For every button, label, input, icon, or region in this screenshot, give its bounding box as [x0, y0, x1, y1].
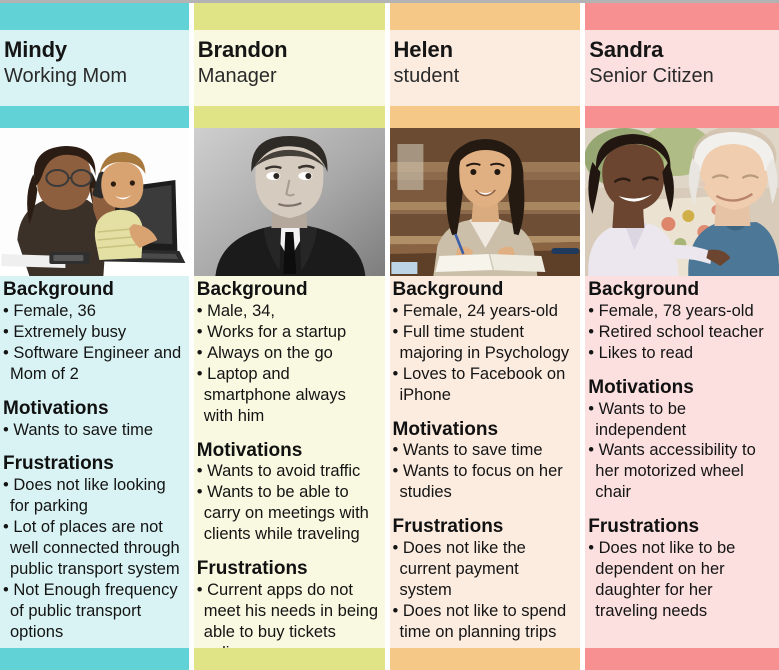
list-item: Software Engineer and Mom of 2 — [3, 343, 183, 385]
accent-band-middle — [194, 106, 385, 128]
motivations-list: Wants to avoid traffic Wants to be able … — [197, 461, 379, 545]
background-list: Male, 34, Works for a startup Always on … — [197, 301, 379, 427]
accent-band-bottom — [585, 648, 779, 670]
frustrations-list: Does not like the current payment system… — [393, 538, 575, 643]
list-item: Laptop and smartphone always with him — [197, 364, 379, 427]
manager-portrait-photo — [194, 128, 385, 276]
persona-body: Background Female, 24 years-old Full tim… — [390, 276, 581, 648]
persona-photo-wrap — [390, 128, 581, 276]
accent-band-bottom — [390, 648, 581, 670]
background-heading: Background — [588, 279, 773, 301]
persona-body: Background Male, 34, Works for a startup… — [194, 276, 385, 648]
list-item: Does not like the current payment system — [393, 538, 575, 601]
motivations-heading: Motivations — [588, 377, 773, 399]
list-item: Likes to read — [588, 343, 773, 364]
accent-band-bottom — [0, 648, 189, 670]
motivations-list: Wants to be independent Wants accessibil… — [588, 399, 773, 504]
persona-role: Senior Citizen — [589, 64, 775, 88]
list-item: Wants to be independent — [588, 399, 773, 441]
persona-card-brandon: Brandon Manager — [194, 3, 385, 670]
accent-band-middle — [585, 106, 779, 128]
list-item: Not Enough frequency of public transport… — [3, 580, 183, 643]
motivations-heading: Motivations — [393, 419, 575, 441]
list-item: Female, 24 years-old — [393, 301, 575, 322]
motivations-heading: Motivations — [197, 440, 379, 462]
list-item: Does not like looking for parking — [3, 475, 183, 517]
senior-citizen-photo — [585, 128, 779, 276]
persona-nameplate: Helen student — [390, 30, 581, 106]
persona-nameplate: Mindy Working Mom — [0, 30, 189, 106]
list-item: Wants to avoid traffic — [197, 461, 379, 482]
motivations-list: Wants to save time Wants to focus on her… — [393, 440, 575, 503]
list-item: Female, 78 years-old — [588, 301, 773, 322]
frustrations-heading: Frustrations — [197, 558, 379, 580]
list-item: Wants to save time — [393, 440, 575, 461]
top-divider-rule — [0, 0, 779, 3]
persona-photo-wrap — [585, 128, 779, 276]
frustrations-list: Current apps do not meet his needs in be… — [197, 580, 379, 648]
persona-card-mindy: Mindy Working Mom — [0, 3, 189, 670]
list-item: Wants to be able to carry on meetings wi… — [197, 482, 379, 545]
motivations-heading: Motivations — [3, 398, 183, 420]
frustrations-list: Does not like looking for parking Lot of… — [3, 475, 183, 643]
list-item: Wants accessibility to her motorized whe… — [588, 440, 773, 503]
persona-nameplate: Brandon Manager — [194, 30, 385, 106]
persona-role: Working Mom — [4, 64, 185, 88]
persona-photo-wrap — [194, 128, 385, 276]
persona-nameplate: Sandra Senior Citizen — [585, 30, 779, 106]
persona-role: student — [394, 64, 577, 88]
list-item: Does not like to be dependent on her dau… — [588, 538, 773, 622]
persona-body: Background Female, 36 Extremely busy Sof… — [0, 276, 189, 648]
background-heading: Background — [3, 279, 183, 301]
background-list: Female, 36 Extremely busy Software Engin… — [3, 301, 183, 385]
background-heading: Background — [197, 279, 379, 301]
frustrations-heading: Frustrations — [393, 516, 575, 538]
frustrations-heading: Frustrations — [3, 453, 183, 475]
accent-band-top — [0, 3, 189, 30]
persona-name: Helen — [394, 38, 577, 63]
background-heading: Background — [393, 279, 575, 301]
persona-name: Brandon — [198, 38, 381, 63]
persona-role: Manager — [198, 64, 381, 88]
frustrations-list: Does not like to be dependent on her dau… — [588, 538, 773, 622]
list-item: Extremely busy — [3, 322, 183, 343]
persona-name: Mindy — [4, 38, 185, 63]
persona-card-helen: Helen student — [390, 3, 581, 670]
list-item: Loves to Facebook on iPhone — [393, 364, 575, 406]
frustrations-heading: Frustrations — [588, 516, 773, 538]
list-item: Retired school teacher — [588, 322, 773, 343]
list-item: Works for a startup — [197, 322, 379, 343]
list-item: Lot of places are not well connected thr… — [3, 517, 183, 580]
accent-band-top — [390, 3, 581, 30]
persona-board: Mindy Working Mom — [0, 0, 779, 670]
accent-band-top — [194, 3, 385, 30]
accent-band-middle — [0, 106, 189, 128]
list-item: Current apps do not meet his needs in be… — [197, 580, 379, 648]
list-item: Wants to save time — [3, 420, 183, 441]
persona-body: Background Female, 78 years-old Retired … — [585, 276, 779, 648]
working-mom-photo — [0, 128, 189, 276]
persona-card-sandra: Sandra Senior Citizen — [585, 3, 779, 670]
accent-band-top — [585, 3, 779, 30]
student-photo — [390, 128, 581, 276]
motivations-list: Wants to save time — [3, 420, 183, 441]
persona-photo-wrap — [0, 128, 189, 276]
list-item: Full time student majoring in Psychology — [393, 322, 575, 364]
list-item: Does not like to spend time on planning … — [393, 601, 575, 643]
list-item: Male, 34, — [197, 301, 379, 322]
list-item: Wants to focus on her studies — [393, 461, 575, 503]
background-list: Female, 24 years-old Full time student m… — [393, 301, 575, 406]
background-list: Female, 78 years-old Retired school teac… — [588, 301, 773, 364]
accent-band-middle — [390, 106, 581, 128]
list-item: Always on the go — [197, 343, 379, 364]
list-item: Female, 36 — [3, 301, 183, 322]
accent-band-bottom — [194, 648, 385, 670]
persona-name: Sandra — [589, 38, 775, 63]
